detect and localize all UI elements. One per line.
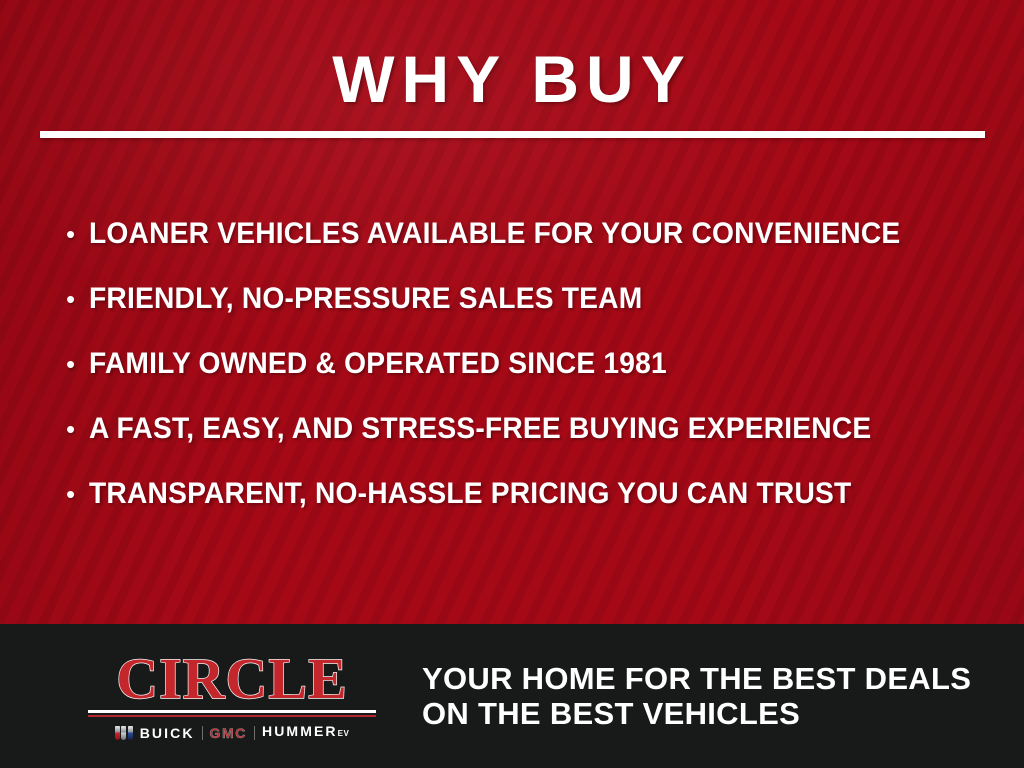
hero-section: WHY BUY • LOANER VEHICLES AVAILABLE FOR …	[0, 0, 1024, 624]
list-item-label: TRANSPARENT, NO-HASSLE PRICING YOU CAN T…	[89, 478, 851, 510]
list-item-label: LOANER VEHICLES AVAILABLE FOR YOUR CONVE…	[89, 218, 900, 250]
bullet-dot-icon: •	[66, 478, 89, 510]
title-divider-rule	[40, 131, 985, 138]
dealer-logo[interactable]: CIRCLE BUICK GMC HUMMEREV	[88, 651, 376, 741]
slide-root: WHY BUY • LOANER VEHICLES AVAILABLE FOR …	[0, 0, 1024, 768]
list-item: • FAMILY OWNED & OPERATED SINCE 1981	[66, 348, 994, 413]
list-item: • FRIENDLY, NO-PRESSURE SALES TEAM	[66, 283, 994, 348]
brand-strip: BUICK GMC HUMMEREV	[88, 724, 376, 741]
dealer-logo-wordmark: CIRCLE	[88, 651, 376, 707]
buick-tri-shield-icon	[115, 726, 133, 740]
list-item: • A FAST, EASY, AND STRESS-FREE BUYING E…	[66, 413, 994, 478]
brand-label-hummer-ev: EV	[338, 729, 350, 738]
list-item-label: A FAST, EASY, AND STRESS-FREE BUYING EXP…	[89, 413, 871, 445]
list-item-label: FAMILY OWNED & OPERATED SINCE 1981	[89, 348, 667, 380]
footer-bar: CIRCLE BUICK GMC HUMMEREV YOUR HOME FOR …	[0, 624, 1024, 768]
brand-separator-icon	[254, 726, 255, 740]
bullet-dot-icon: •	[66, 348, 89, 380]
footer-tagline-line1: YOUR HOME FOR THE BEST DEALS	[422, 661, 971, 696]
footer-tagline-line2: ON THE BEST VEHICLES	[422, 696, 971, 731]
footer-tagline: YOUR HOME FOR THE BEST DEALS ON THE BEST…	[422, 661, 971, 731]
bullet-dot-icon: •	[66, 413, 89, 445]
benefits-list: • LOANER VEHICLES AVAILABLE FOR YOUR CON…	[66, 218, 994, 543]
brand-label-buick: BUICK	[140, 726, 195, 740]
logo-rule-red	[88, 715, 376, 717]
brand-separator-icon	[202, 726, 203, 740]
brand-label-hummer-text: HUMMER	[262, 723, 338, 739]
list-item: • TRANSPARENT, NO-HASSLE PRICING YOU CAN…	[66, 478, 994, 543]
brand-label-gmc: GMC	[210, 726, 247, 740]
list-item-label: FRIENDLY, NO-PRESSURE SALES TEAM	[89, 283, 642, 315]
bullet-dot-icon: •	[66, 283, 89, 315]
bullet-dot-icon: •	[66, 218, 89, 250]
list-item: • LOANER VEHICLES AVAILABLE FOR YOUR CON…	[66, 218, 994, 283]
page-title: WHY BUY	[0, 44, 1024, 114]
brand-label-hummer: HUMMEREV	[262, 724, 349, 741]
